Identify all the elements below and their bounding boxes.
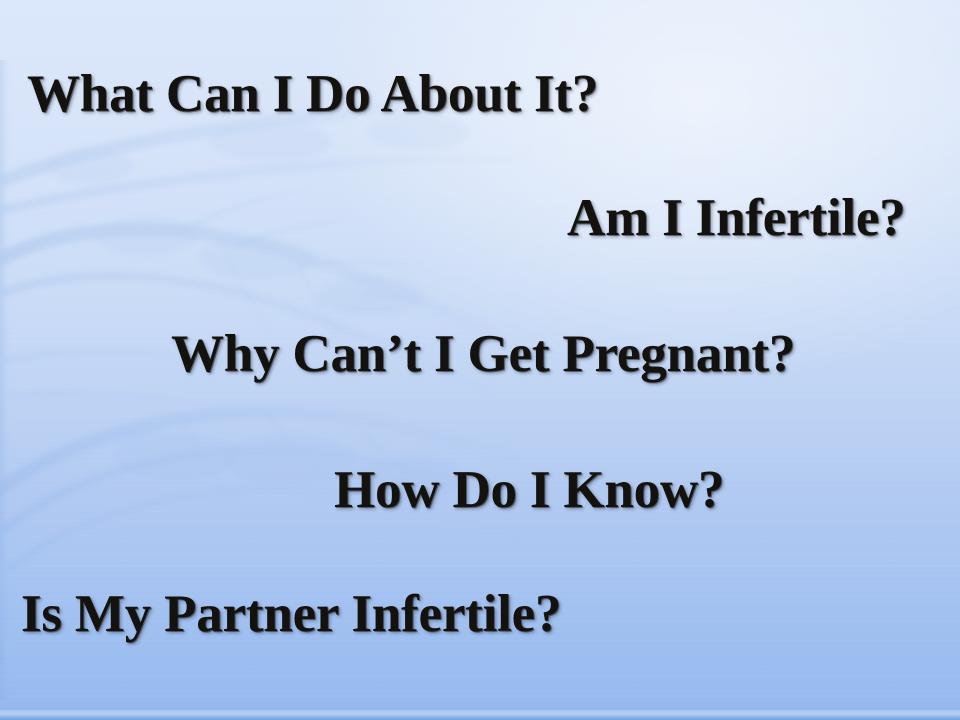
question-line-why-cant-i-get-pregnant: Why Can’t I Get Pregnant? [171, 328, 795, 381]
question-line-am-i-infertile: Am I Infertile? [567, 192, 905, 245]
question-line-how-do-i-know: How Do I Know? [334, 464, 724, 517]
slide-canvas: What Can I Do About It? Am I Infertile? … [0, 0, 960, 720]
question-line-is-my-partner-infertile: Is My Partner Infertile? [21, 588, 561, 641]
bottom-edge-band [0, 710, 960, 720]
question-line-what-can-i-do-about-it: What Can I Do About It? [27, 68, 598, 121]
